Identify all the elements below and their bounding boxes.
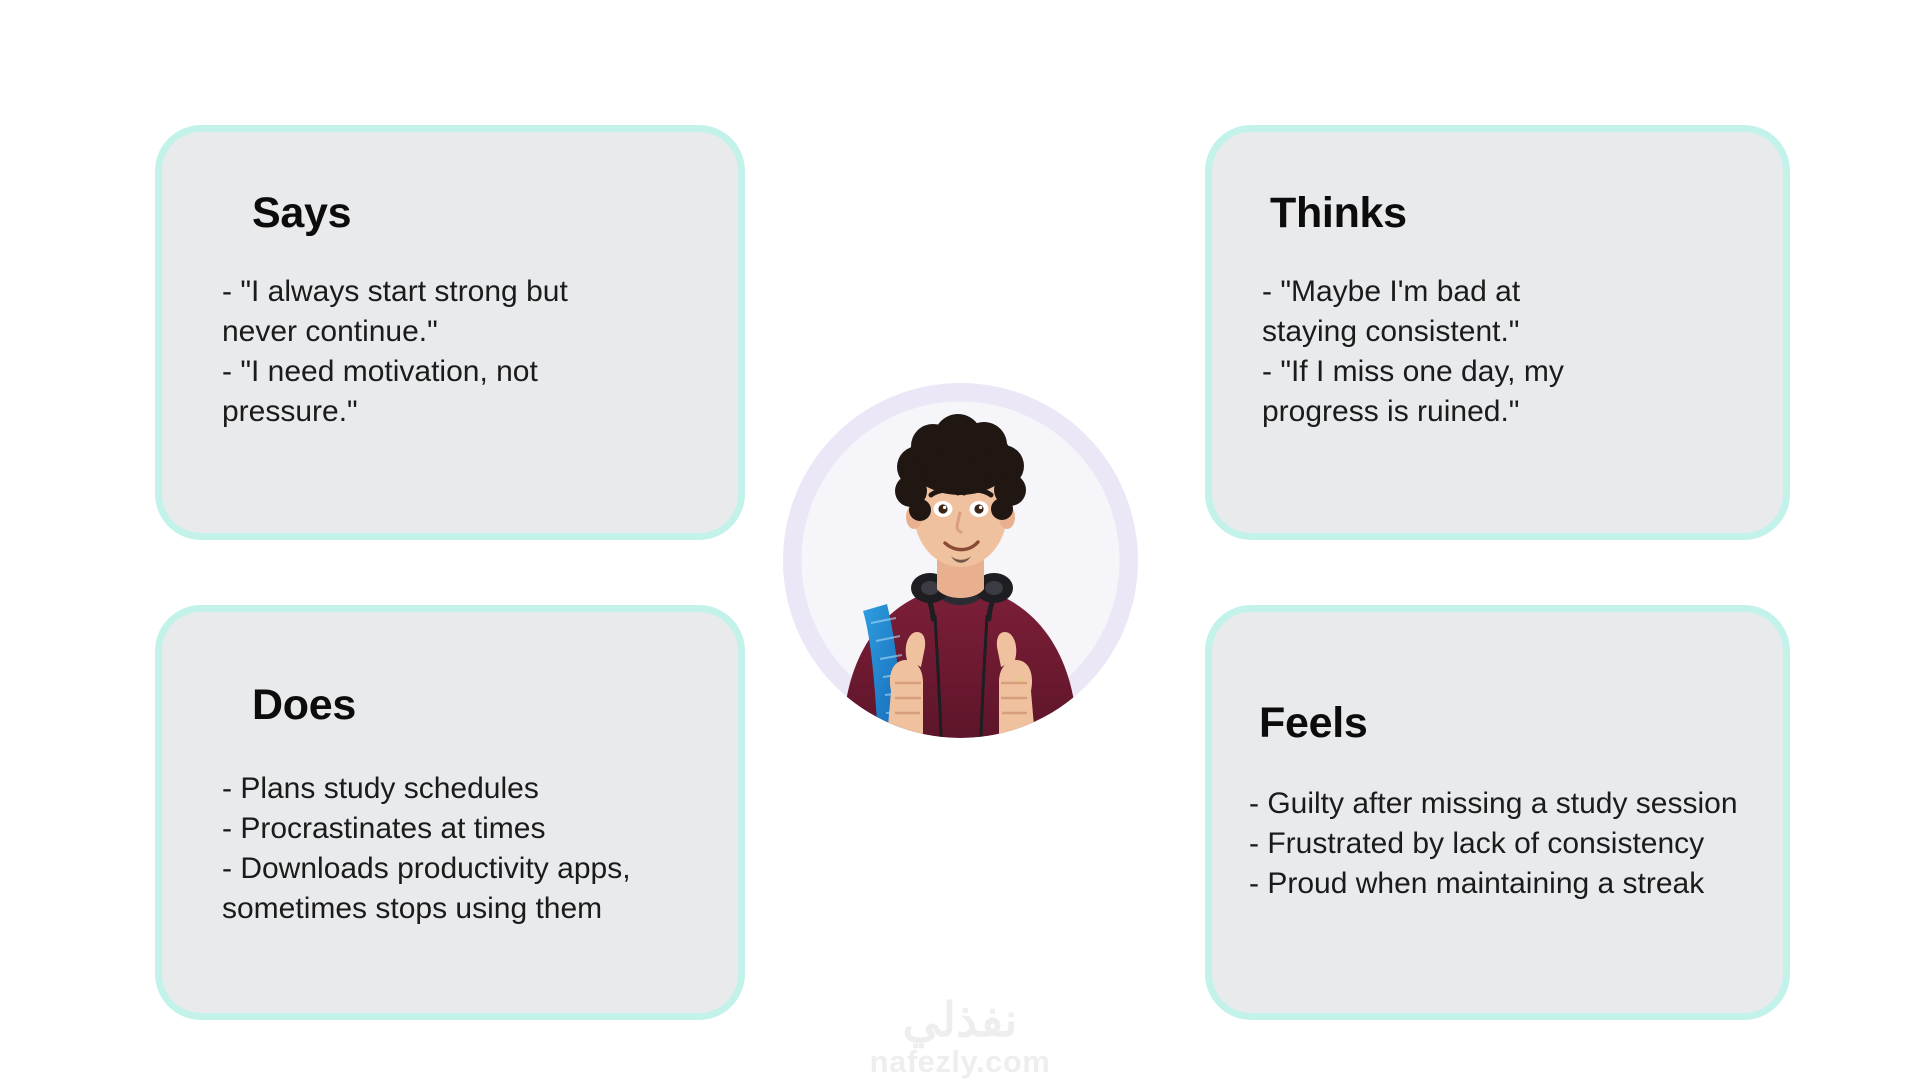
card-title-does: Does xyxy=(252,684,356,727)
persona-avatar-illustration xyxy=(783,383,1138,738)
empathy-card-does[interactable]: Does - Plans study schedules - Procrasti… xyxy=(155,605,745,1020)
empathy-card-feels[interactable]: Feels - Guilty after missing a study ses… xyxy=(1205,605,1790,1020)
watermark-domain: nafezly.com xyxy=(0,1044,1920,1080)
card-body-thinks: - "Maybe I'm bad at staying consistent."… xyxy=(1262,272,1772,432)
empathy-card-says[interactable]: Says - "I always start strong but never … xyxy=(155,125,745,540)
card-title-says: Says xyxy=(252,192,351,235)
card-body-says: - "I always start strong but never conti… xyxy=(222,272,722,432)
card-body-feels: - Guilty after missing a study session -… xyxy=(1249,784,1789,904)
card-title-thinks: Thinks xyxy=(1270,192,1407,235)
card-body-does: - Plans study schedules - Procrastinates… xyxy=(222,769,742,929)
empathy-map-canvas: Says - "I always start strong but never … xyxy=(0,0,1920,1080)
card-title-feels: Feels xyxy=(1259,702,1367,745)
empathy-card-thinks[interactable]: Thinks - "Maybe I'm bad at staying consi… xyxy=(1205,125,1790,540)
persona-avatar xyxy=(783,383,1138,738)
